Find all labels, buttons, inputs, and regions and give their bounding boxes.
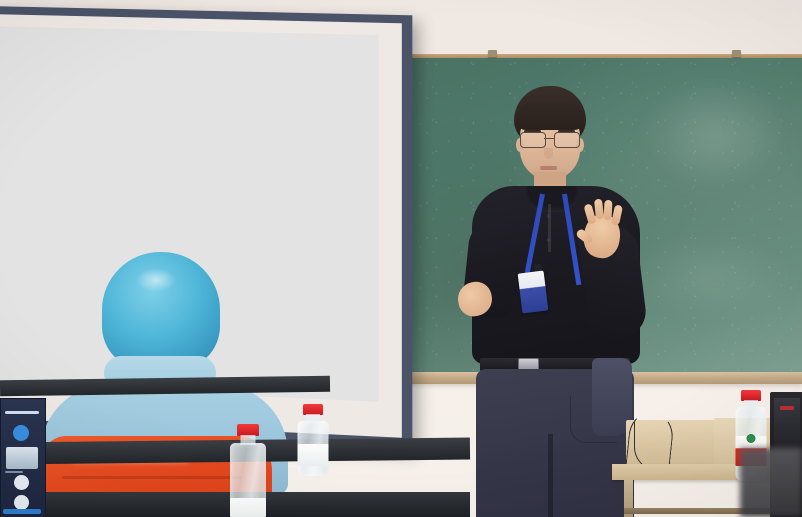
eyeglasses-icon <box>518 132 582 147</box>
classroom-photo-scene: 北京师范大学 · 口腔4 2021 BNUEE § 中级经济师 · 经济基础知识… <box>0 0 802 517</box>
laptop-screen[interactable] <box>0 398 46 517</box>
laptop-title-bar <box>5 411 39 414</box>
slide-badge: § 中级经济师 · 经济基础知识 · 专题精讲 <box>178 47 354 70</box>
slide-title: 2021 BNUEE <box>14 43 133 66</box>
hair-highlight <box>136 268 176 292</box>
water-bottle-left <box>290 404 336 476</box>
axis-var: p₁ <box>0 270 7 279</box>
laptop-thumbnail[interactable] <box>6 447 38 469</box>
laptop-taskbar[interactable] <box>3 509 41 514</box>
trouser-seam <box>548 434 553 517</box>
glasses-lens <box>520 132 546 148</box>
section-mark-icon: § <box>188 51 193 60</box>
water-bottle-front <box>222 424 274 517</box>
presenter-nose <box>544 148 553 159</box>
shirt-button <box>547 238 551 242</box>
bottle-label <box>298 444 329 466</box>
laptop-app-icon[interactable] <box>13 425 29 441</box>
glasses-bridge <box>544 138 554 139</box>
presenter-collar <box>526 186 578 212</box>
presenter-mouth <box>540 166 557 170</box>
shirt-placket <box>548 204 551 252</box>
notification-icon[interactable] <box>338 375 347 383</box>
slide-badge-text: 中级经济师 · 经济基础知识 · 专题精讲 <box>200 51 330 65</box>
laptop-round-button[interactable] <box>14 495 29 510</box>
jacket-seam <box>62 476 242 479</box>
finger <box>603 200 612 220</box>
name-badge <box>518 271 549 314</box>
monitor-brand-mark <box>780 406 794 410</box>
board-clip-icon <box>488 50 497 57</box>
bottle-emblem-icon <box>747 434 756 443</box>
slide-text-line-a: 客户其存款额定价，分别为p₁^(1)与p₂^(1)： <box>0 173 181 193</box>
slide-text-line-b: 存点获得的一定的p₂，才不至于第二阶段丢失客户的锁定价格p₂^(2) <box>0 209 286 234</box>
laptop-round-button[interactable] <box>14 475 29 490</box>
laptop-list-line <box>5 471 23 473</box>
board-clip-icon <box>732 50 741 57</box>
slide-header: 北京师范大学 · 口腔4 2021 BNUEE § 中级经济师 · 经济基础知识… <box>0 26 379 95</box>
shirt-button <box>547 214 551 218</box>
foreground-blur-object <box>740 448 802 517</box>
bottle-label <box>230 498 266 517</box>
glasses-lens <box>554 132 580 148</box>
axis-tick <box>4 260 5 267</box>
file-explorer-icon[interactable] <box>0 360 7 367</box>
presenter-hair-fringe <box>516 102 584 130</box>
